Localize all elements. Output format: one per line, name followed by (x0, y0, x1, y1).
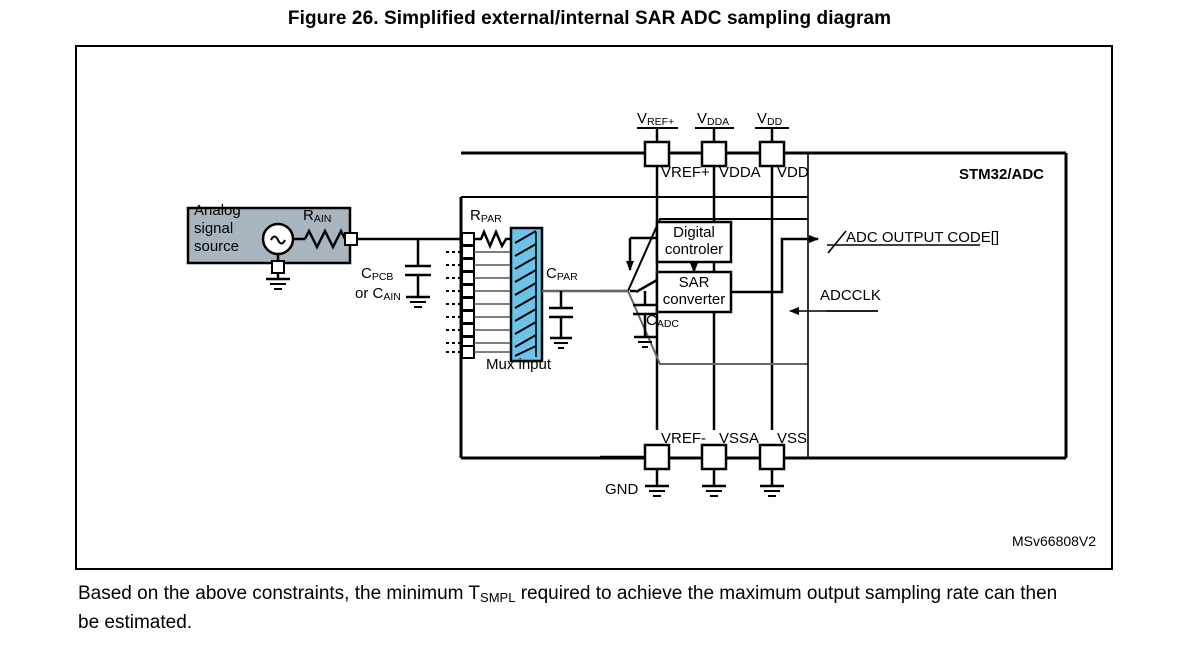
cadc-base: C (646, 312, 657, 329)
cpcb-sub: PCB (372, 271, 394, 283)
rain-label: RAIN (303, 208, 331, 225)
cadc-sub: ADC (657, 318, 679, 330)
vrefp-base: V (637, 110, 647, 127)
body-paragraph: Based on the above constraints, the mini… (78, 580, 1068, 637)
watermark: MSv66808V2 (1012, 533, 1096, 549)
cpar-base: C (546, 265, 557, 282)
mux-input-label: Mux input (486, 357, 551, 373)
cpar-sub: PAR (557, 271, 578, 283)
sar-converter-line1: SAR (664, 275, 724, 291)
cain-base: C (373, 285, 384, 302)
analog-source-line3: source (194, 239, 239, 255)
rain-base: R (303, 207, 314, 224)
pin-inside-vdd: VDD (777, 165, 809, 181)
gnd-label: GND (605, 482, 638, 498)
adc-output-code-label: ADC OUTPUT CODE[] (846, 230, 999, 246)
cadc-label: CADC (646, 313, 679, 330)
body-subscript: SMPL (480, 590, 515, 605)
pin-label-vrefp-outside: VREF+ (637, 111, 674, 128)
rain-sub: AIN (314, 213, 332, 225)
vdd-base: V (757, 110, 767, 127)
digital-controller-line1: Digital (664, 225, 724, 241)
vdda-sub: DDA (707, 116, 729, 128)
pin-inside-vdda: VDDA (719, 165, 761, 181)
cpcb-base: C (361, 265, 372, 282)
rpar-base: R (470, 207, 481, 224)
vrefp-sub: REF+ (647, 116, 674, 128)
pin-inside-vss: VSS (777, 431, 807, 447)
pin-inside-vssa: VSSA (719, 431, 759, 447)
vdd-sub: DD (767, 116, 782, 128)
vdda-base: V (697, 110, 707, 127)
pin-label-vdda-outside: VDDA (697, 111, 729, 128)
cain-prefix: or (355, 285, 373, 302)
cain-label: or CAIN (355, 286, 401, 303)
chip-label: STM32/ADC (959, 167, 1044, 183)
diagram-svg (0, 0, 1179, 649)
rpar-label: RPAR (470, 208, 502, 225)
rpar-sub: PAR (481, 213, 502, 225)
body-part1: Based on the above constraints, the mini… (78, 583, 480, 604)
cain-sub: AIN (383, 291, 401, 303)
figure-container: Figure 26. Simplified external/internal … (0, 0, 1179, 649)
pin-inside-vrefn: VREF- (661, 431, 706, 447)
digital-controller-line2: controler (659, 242, 729, 258)
analog-source-line2: signal (194, 221, 233, 237)
adcclk-label: ADCCLK (820, 288, 881, 304)
cpcb-label: CPCB (361, 266, 393, 283)
pin-label-vdd-outside: VDD (757, 111, 782, 128)
sar-converter-line2: converter (659, 292, 729, 308)
analog-source-line1: Analog (194, 203, 241, 219)
cpar-label: CPAR (546, 266, 578, 283)
pin-inside-vrefp: VREF+ (661, 165, 710, 181)
